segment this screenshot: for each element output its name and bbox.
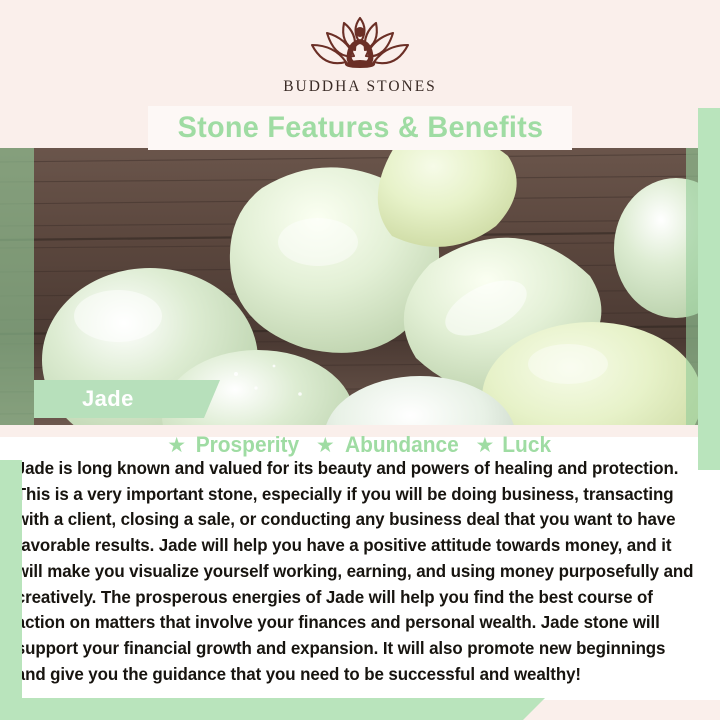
decor-frame-left	[0, 460, 22, 720]
decor-frame-bottom	[0, 698, 545, 720]
stone-name-band: Jade	[34, 380, 220, 418]
description-text: Jade is long known and valued for its be…	[0, 456, 709, 687]
keyword-label: Prosperity	[196, 432, 299, 458]
brand-wordmark: BUDDHA STONES	[283, 78, 437, 96]
star-icon: ★	[167, 435, 186, 456]
keyword-label: Luck	[503, 432, 552, 458]
title-band: Stone Features & Benefits	[148, 106, 572, 150]
photo-left-green-tint	[0, 148, 34, 425]
star-icon: ★	[476, 435, 495, 456]
stone-name-label: Jade	[82, 386, 134, 412]
keyword-item-luck: ★ Luck	[476, 432, 553, 458]
lotus-meditation-icon	[300, 14, 420, 76]
page-title: Stone Features & Benefits	[177, 111, 543, 145]
infographic-canvas: Jade ★ Prosperity ★ Abundance ★ Luck Jad…	[0, 0, 720, 720]
star-icon: ★	[316, 435, 335, 456]
brand-header: BUDDHA STONES	[0, 0, 720, 108]
keyword-item-abundance: ★ Abundance	[316, 432, 462, 458]
keyword-label: Abundance	[345, 432, 459, 458]
keyword-item-prosperity: ★ Prosperity	[167, 432, 302, 458]
